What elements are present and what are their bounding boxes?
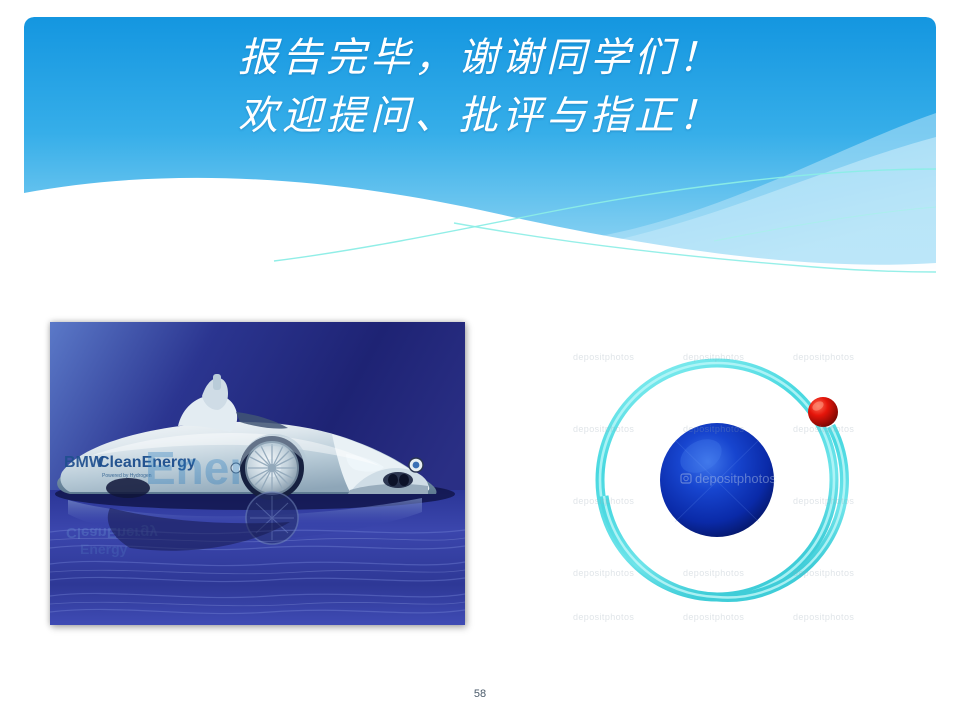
watermark-tile: depositphotos [573,568,634,578]
hydrogen-atom-illustration: depositphotos depositphotos depositphoto… [563,330,871,630]
car-photo-graphic: BMW CleanEnergy Powered by Hydrogen Ener… [50,322,465,625]
bmw-cleanenergy-car-photo: BMW CleanEnergy Powered by Hydrogen Ener… [50,322,465,625]
electron [808,397,838,427]
watermark-tile: depositphotos [793,352,854,362]
nucleus-watermark: depositphotos [681,471,776,486]
svg-text:depositphotos: depositphotos [695,471,776,486]
watermark-tile: depositphotos [573,424,634,434]
watermark-tile: depositphotos [683,612,744,622]
atom-graphic: depositphotos [563,330,871,630]
car-reflection-text-2: Energy [80,541,128,557]
watermark-tile: depositphotos [573,496,634,506]
watermark-tile: depositphotos [793,424,854,434]
watermark-tile: depositphotos [683,352,744,362]
watermark-tile: depositphotos [573,612,634,622]
title-banner [24,17,936,275]
watermark-tile: depositphotos [683,568,744,578]
watermark-tile: depositphotos [793,568,854,578]
presentation-slide: 报告完毕，谢谢同学们！ 欢迎提问、批评与指正！ [0,0,960,720]
watermark-tile: depositphotos [793,496,854,506]
watermark-tile: depositphotos [573,352,634,362]
banner-graphic [24,17,936,275]
page-number: 58 [0,688,960,700]
watermark-tile: depositphotos [683,424,744,434]
watermark-tile: depositphotos [793,612,854,622]
